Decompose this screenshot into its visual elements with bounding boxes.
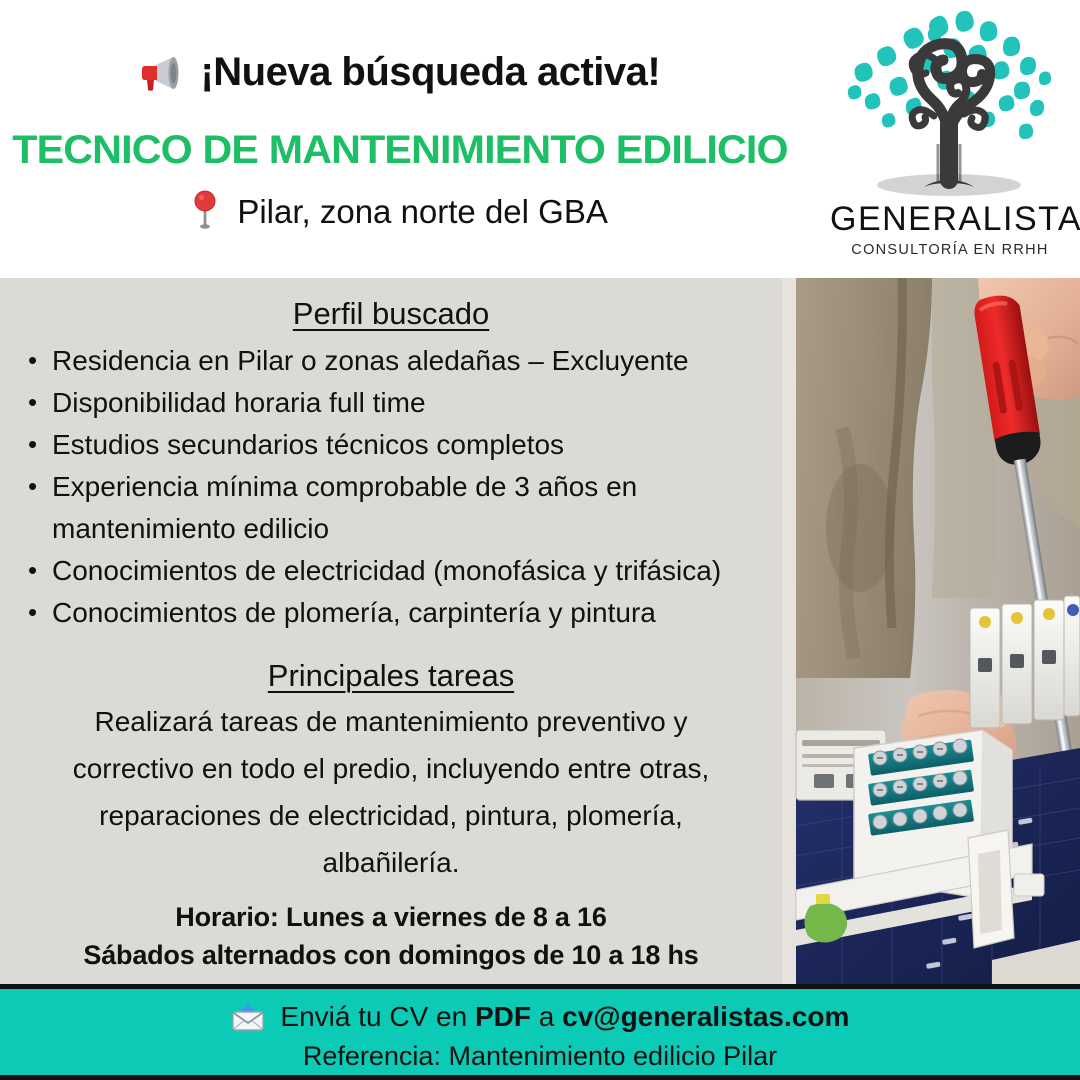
location-text: Pilar, zona norte del GBA: [237, 193, 608, 230]
schedule-line-weekend: Sábados alternados con domingos de 10 a …: [0, 936, 782, 974]
megaphone-icon: [140, 55, 182, 101]
contact-email[interactable]: cv@generalistas.com: [562, 1001, 849, 1032]
tasks-line: albañilería.: [0, 839, 782, 886]
map-pin-icon: [192, 190, 218, 238]
kicker-line: ¡Nueva búsqueda activa!: [0, 50, 800, 101]
electrician-photo: [782, 278, 1080, 988]
logo-wordmark: GENERALISTAS: [830, 200, 1070, 239]
header-text-block: ¡Nueva búsqueda activa! TECNICO DE MANTE…: [0, 0, 800, 278]
cv-submission-line: Enviá tu CV en PDF a cv@generalistas.com: [0, 1001, 1080, 1038]
profile-list: Residencia en Pilar o zonas aledañas – E…: [14, 340, 774, 634]
logo-tagline: CONSULTORÍA EN RRHH: [830, 242, 1070, 258]
list-item: Estudios secundarios técnicos completos: [14, 424, 774, 466]
location-line: Pilar, zona norte del GBA: [0, 190, 800, 238]
job-title: TECNICO DE MANTENIMIENTO EDILICIO: [0, 128, 812, 173]
tasks-paragraph: Realizará tareas de mantenimiento preven…: [0, 698, 782, 886]
job-copy: Perfil buscado Residencia en Pilar o zon…: [0, 278, 782, 984]
list-item: Residencia en Pilar o zonas aledañas – E…: [14, 340, 774, 382]
list-item: Conocimientos de electricidad (monofásic…: [14, 550, 774, 592]
cv-middle-text: a: [531, 1001, 562, 1032]
tasks-line: correctivo en todo el predio, incluyendo…: [0, 745, 782, 792]
schedule-block: Horario: Lunes a viernes de 8 a 16 Sábad…: [0, 898, 782, 974]
tasks-heading: Principales tareas: [0, 658, 782, 694]
kicker-text: ¡Nueva búsqueda activa!: [200, 50, 660, 94]
list-item: Disponibilidad horaria full time: [14, 382, 774, 424]
cv-format-label: PDF: [475, 1001, 531, 1032]
incoming-envelope-icon: [231, 1003, 265, 1038]
job-posting-poster: ¡Nueva búsqueda activa! TECNICO DE MANTE…: [0, 0, 1080, 1080]
schedule-line-weekday: Horario: Lunes a viernes de 8 a 16: [0, 898, 782, 936]
tasks-line: reparaciones de electricidad, pintura, p…: [0, 792, 782, 839]
list-item: Conocimientos de plomería, carpintería y…: [14, 592, 774, 634]
profile-heading: Perfil buscado: [0, 296, 782, 332]
company-logo: GENERALISTAS CONSULTORÍA EN RRHH: [830, 4, 1070, 272]
reference-line: Referencia: Mantenimiento edilicio Pilar: [0, 1041, 1080, 1072]
list-item: Experiencia mínima comprobable de 3 años…: [14, 466, 774, 550]
poster-footer: Enviá tu CV en PDF a cv@generalistas.com…: [0, 984, 1080, 1080]
tasks-line: Realizará tareas de mantenimiento preven…: [0, 698, 782, 745]
poster-header: ¡Nueva búsqueda activa! TECNICO DE MANTE…: [0, 0, 1080, 278]
tree-logo-icon: [838, 4, 1060, 200]
cv-prefix-text: Enviá tu CV en: [280, 1001, 475, 1032]
